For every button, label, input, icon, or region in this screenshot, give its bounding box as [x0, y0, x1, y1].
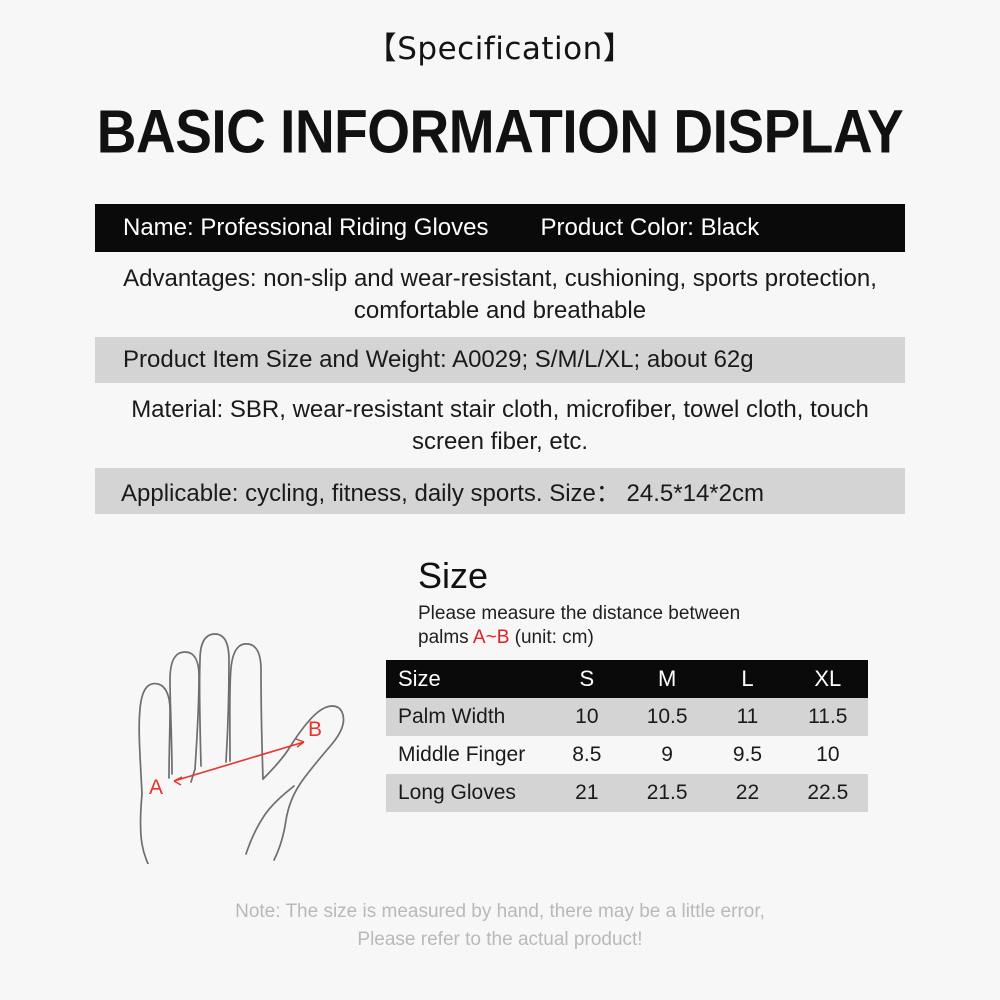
cell-middle-finger-l: 9.5: [707, 736, 787, 774]
product-name-label: Name: Professional Riding Gloves: [123, 214, 489, 242]
cell-palm-width-xl: 11.5: [788, 698, 868, 736]
instruction-prefix: palms: [418, 627, 473, 648]
cell-palm-width-l: 11: [707, 698, 787, 736]
applicable-row: Applicable: cycling, fitness, daily spor…: [95, 468, 905, 514]
cell-long-gloves-l: 22: [707, 774, 787, 812]
page-title: BASIC INFORMATION DISPLAY: [0, 101, 1000, 163]
hand-outline-icon: A B: [112, 564, 412, 864]
col-header-s: S: [547, 660, 627, 698]
cell-long-gloves-xl: 22.5: [788, 774, 868, 812]
row-label-middle-finger: Middle Finger: [386, 736, 547, 774]
point-a-label: A: [149, 776, 163, 799]
size-instruction: Please measure the distance between palm…: [418, 602, 906, 651]
size-instruction-line2: palms A~B (unit: cm): [418, 626, 906, 650]
point-b-label: B: [308, 718, 322, 741]
item-size-weight-row: Product Item Size and Weight: A0029; S/M…: [95, 337, 905, 383]
size-heading: Size: [418, 556, 906, 596]
cell-palm-width-s: 10: [547, 698, 627, 736]
cell-palm-width-m: 10.5: [627, 698, 707, 736]
table-row: Middle Finger 8.5 9 9.5 10: [386, 736, 868, 774]
cell-middle-finger-m: 9: [627, 736, 707, 774]
col-header-l: L: [707, 660, 787, 698]
row-label-palm-width: Palm Width: [386, 698, 547, 736]
size-section: A B Size Please measure the distance bet…: [0, 556, 1000, 876]
col-header-size: Size: [386, 660, 547, 698]
footer-note-line2: Please refer to the actual product!: [0, 926, 1000, 954]
advantages-row: Advantages: non-slip and wear-resistant,…: [95, 252, 905, 337]
col-header-m: M: [627, 660, 707, 698]
cell-middle-finger-s: 8.5: [547, 736, 627, 774]
row-label-long-gloves: Long Gloves: [386, 774, 547, 812]
name-color-bar: Name: Professional Riding Gloves Product…: [95, 204, 905, 252]
size-chart-table: Size S M L XL Palm Width 10 10.5 11 11.5…: [386, 660, 868, 812]
cell-middle-finger-xl: 10: [788, 736, 868, 774]
table-row: Palm Width 10 10.5 11 11.5: [386, 698, 868, 736]
table-row: Long Gloves 21 21.5 22 22.5: [386, 774, 868, 812]
table-header-row: Size S M L XL: [386, 660, 868, 698]
measurement-line: [174, 739, 304, 785]
size-instruction-line1: Please measure the distance between: [418, 602, 906, 626]
footer-note-line1: Note: The size is measured by hand, ther…: [0, 898, 1000, 926]
ab-marker: A~B: [473, 627, 509, 648]
footer-note: Note: The size is measured by hand, ther…: [0, 898, 1000, 953]
cell-long-gloves-m: 21.5: [627, 774, 707, 812]
size-info-column: Size Please measure the distance between…: [386, 556, 906, 812]
material-row: Material: SBR, wear-resistant stair clot…: [95, 383, 905, 468]
specification-label: 【Specification】: [0, 0, 1000, 65]
col-header-xl: XL: [788, 660, 868, 698]
instruction-suffix: (unit: cm): [509, 627, 593, 648]
hand-measurement-diagram: A B: [112, 564, 412, 864]
product-color-label: Product Color: Black: [541, 214, 760, 242]
cell-long-gloves-s: 21: [547, 774, 627, 812]
basic-information-block: Name: Professional Riding Gloves Product…: [0, 204, 1000, 514]
